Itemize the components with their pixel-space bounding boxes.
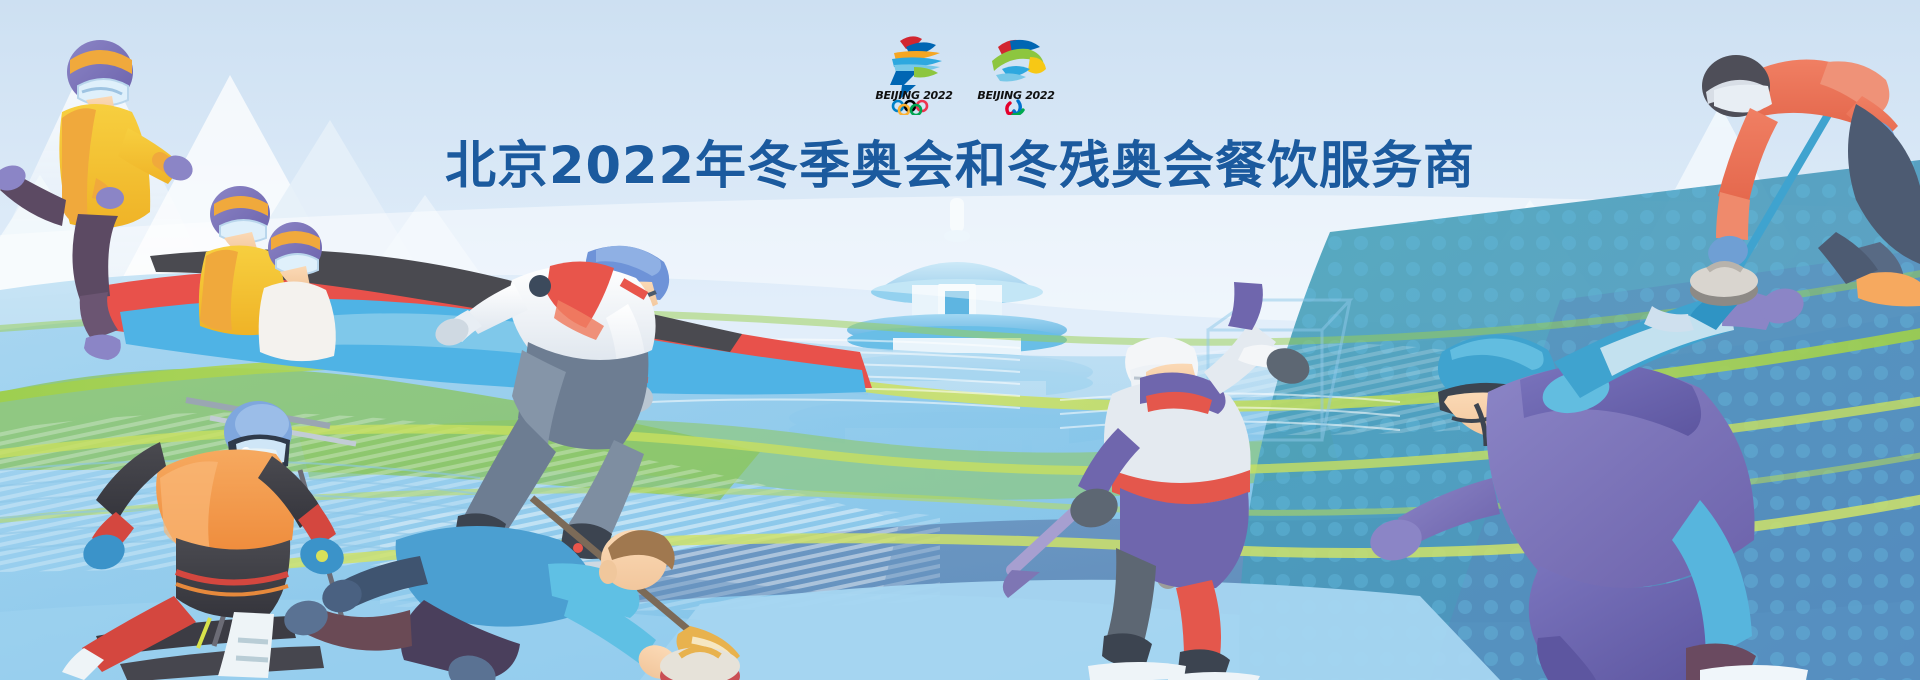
beijing-2022-paralympic-logo[interactable]: BEIJING 2022	[972, 27, 1060, 115]
athlete-bobsled-team	[0, 40, 872, 444]
olympic-banner: BEIJING 2022	[0, 0, 1920, 680]
olympic-wordmark: BEIJING 2022	[875, 89, 953, 102]
paralympic-wordmark: BEIJING 2022	[977, 89, 1055, 102]
paralympic-emblem-icon	[992, 40, 1046, 82]
page-title: 北京2022年冬季奥会和冬残奥会餐饮服务商	[0, 124, 1920, 198]
agitos-icon	[1007, 101, 1023, 115]
logo-group: BEIJING 2022	[870, 27, 1060, 115]
athlete-ice-hockey-player	[1003, 282, 1315, 680]
athlete-speed-skater-right	[1366, 283, 1808, 680]
olympic-rings-icon	[893, 101, 927, 115]
beijing-2022-olympic-logo[interactable]: BEIJING 2022	[870, 27, 958, 115]
athlete-cross-country-skier	[62, 401, 348, 680]
